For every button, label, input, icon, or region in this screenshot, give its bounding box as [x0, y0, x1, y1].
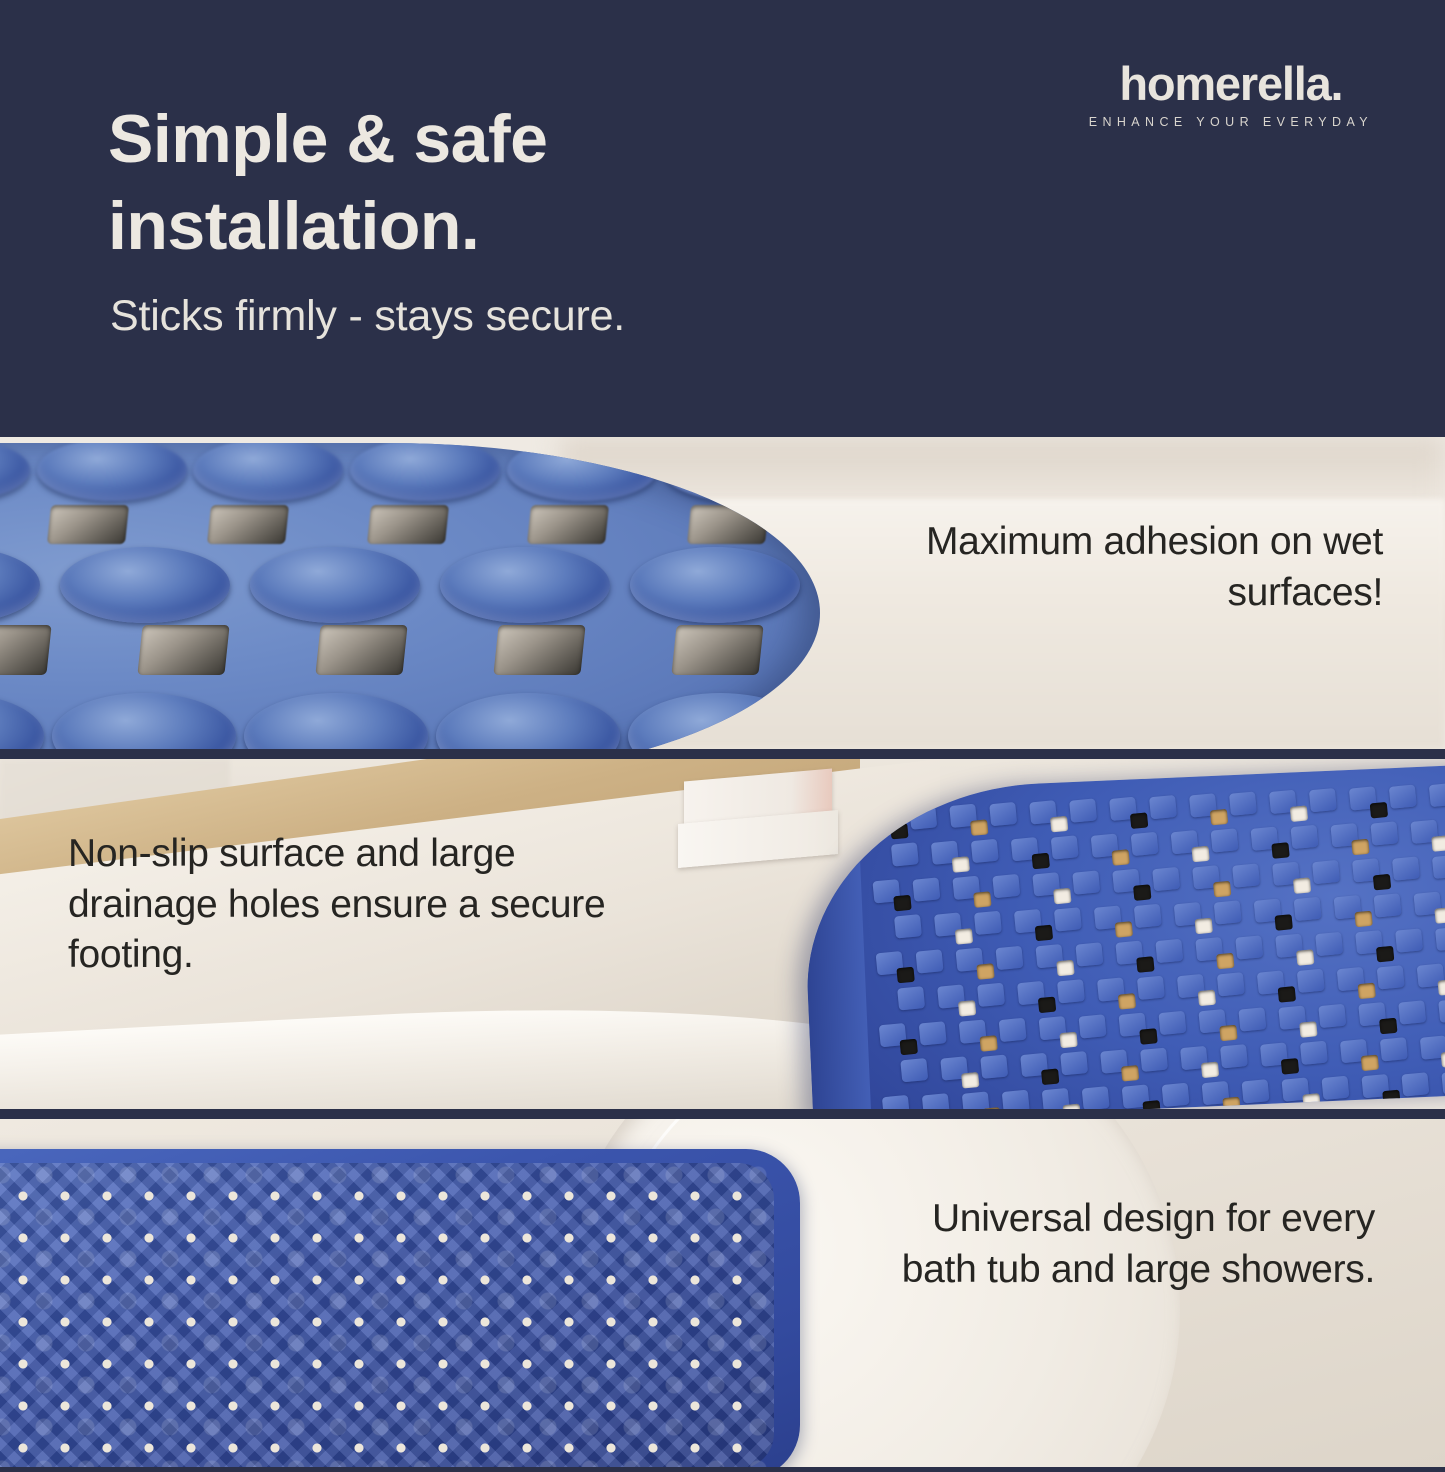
mat-raised-square — [1214, 900, 1242, 924]
mat-raised-square — [1235, 935, 1263, 959]
suction-cup — [350, 443, 500, 501]
mat-drainage-hole — [1358, 983, 1376, 1000]
mat-drainage-hole — [1370, 802, 1388, 819]
mat-raised-square — [1238, 1007, 1266, 1031]
suction-cup — [436, 693, 620, 754]
mat-raised-square — [909, 805, 937, 829]
mat-drainage-hole — [1293, 877, 1311, 894]
mat-raised-square — [1389, 784, 1417, 808]
mat-raised-square — [974, 911, 1002, 935]
mat-raised-square — [995, 946, 1023, 970]
mat-drainage-hole — [1035, 925, 1053, 942]
mat-drainage-hole — [1213, 881, 1231, 898]
suction-cup — [193, 443, 343, 501]
mat-raised-square — [1392, 856, 1420, 880]
mat-raised-square — [1229, 791, 1257, 815]
mat-raised-square — [1297, 969, 1325, 993]
mat-drainage-hole — [1038, 997, 1056, 1014]
mat-raised-square — [977, 983, 1005, 1007]
bath-mat-draped — [799, 764, 1445, 1114]
mat-drainage-hole — [890, 823, 908, 840]
mat-drainage-hole — [893, 895, 911, 912]
mat-drainage-hole — [1219, 1025, 1237, 1042]
mat-drainage-hole — [1041, 1069, 1059, 1086]
mat-raised-square — [1441, 1070, 1445, 1094]
suction-cup — [0, 693, 44, 754]
suction-cup — [37, 443, 187, 501]
mat-raised-square — [1220, 1044, 1248, 1068]
mat-raised-square — [1211, 828, 1239, 852]
mat-raised-square — [1079, 1014, 1107, 1038]
mat-drainage-hole — [1112, 849, 1130, 866]
product-infographic: Simple & safe installation. Sticks firml… — [0, 0, 1445, 1472]
brand-tagline: ENHANCE YOUR EVERYDAY — [1089, 116, 1373, 129]
mat-raised-square — [1134, 904, 1162, 928]
brand-logo: homerella. ENHANCE YOUR EVERYDAY — [1089, 60, 1373, 129]
mat-raised-square — [1060, 1051, 1088, 1075]
mat-drainage-hole — [1354, 911, 1372, 928]
mat-drainage-hole — [983, 1107, 1001, 1114]
mat-drainage-hole — [1142, 1100, 1160, 1114]
suction-cup — [60, 547, 230, 623]
mat-raised-square — [1432, 855, 1445, 879]
drainage-hole — [493, 625, 585, 675]
header-banner: Simple & safe installation. Sticks firml… — [0, 0, 1445, 432]
mat-raised-square — [999, 1018, 1027, 1042]
mat-drainage-hole — [1302, 1093, 1320, 1110]
mat-raised-square — [1069, 798, 1097, 822]
bath-mat-underside — [0, 443, 820, 754]
drainage-hole — [207, 505, 289, 544]
suction-cup — [244, 693, 428, 754]
suction-cup — [440, 547, 610, 623]
mat-raised-square — [897, 986, 925, 1010]
suction-cup — [52, 693, 236, 754]
suction-cup — [630, 547, 800, 623]
mat-drainage-hole — [1290, 805, 1308, 822]
mat-raised-square — [1315, 932, 1343, 956]
mat-drainage-hole — [1118, 993, 1136, 1010]
mat-raised-square — [992, 874, 1020, 898]
mat-drainage-hole — [1059, 1032, 1077, 1049]
mat-raised-square — [1054, 907, 1082, 931]
feature-caption-nonslip: Non-slip surface and large drainage hole… — [68, 829, 668, 981]
feature-caption-universal: Universal design for every bath tub and … — [895, 1194, 1375, 1295]
mat-raised-square — [922, 1093, 950, 1114]
mat-raised-square — [919, 1021, 947, 1045]
mat-raised-square — [912, 877, 940, 901]
mat-drainage-hole — [1032, 853, 1050, 870]
mat-raised-square — [1217, 972, 1245, 996]
mat-raised-square — [1149, 795, 1177, 819]
drainage-hole — [47, 505, 129, 544]
mat-drainage-hole — [1438, 979, 1445, 996]
mat-drainage-hole — [1441, 1051, 1445, 1068]
mat-raised-square — [1232, 863, 1260, 887]
mat-drainage-hole — [1376, 946, 1394, 963]
mat-drainage-hole — [1296, 949, 1314, 966]
mat-raised-square — [1051, 835, 1079, 859]
feature-panel-universal: Universal design for every bath tub and … — [0, 1114, 1445, 1472]
mat-drainage-hole — [1351, 839, 1369, 856]
mat-raised-square — [962, 1091, 990, 1114]
mat-raised-square — [1318, 1004, 1346, 1028]
mat-drainage-hole — [1136, 956, 1154, 973]
mat-raised-square — [971, 839, 999, 863]
mat-drainage-hole — [1431, 835, 1445, 852]
mat-drainage-hole — [1361, 1055, 1379, 1072]
mat-raised-square — [1072, 870, 1100, 894]
mat-drainage-hole — [1133, 884, 1151, 901]
mat-raised-square — [1309, 788, 1337, 812]
mat-drainage-hole — [961, 1072, 979, 1089]
mat-drainage-hole — [1050, 816, 1068, 833]
mat-drainage-hole — [1434, 907, 1445, 924]
mat-drainage-holes — [0, 1163, 774, 1469]
mat-raised-square — [882, 1095, 910, 1114]
mat-raised-square — [1374, 893, 1402, 917]
drainage-hole — [137, 625, 229, 675]
mat-raised-square — [980, 1055, 1008, 1079]
drainage-hole — [315, 625, 407, 675]
mat-drainage-hole — [1191, 846, 1209, 863]
mat-raised-square — [894, 914, 922, 938]
feature-caption-adhesion: Maximum adhesion on wet surfaces! — [843, 517, 1383, 618]
mat-raised-square — [1082, 1086, 1110, 1110]
suction-cup — [0, 547, 40, 623]
mat-drainage-hole — [1216, 953, 1234, 970]
mat-raised-square — [1401, 1072, 1429, 1096]
drainage-hole — [527, 505, 609, 544]
mat-drainage-hole — [1299, 1021, 1317, 1038]
mat-raised-square — [1312, 860, 1340, 884]
mat-raised-square — [989, 802, 1017, 826]
mat-drainage-hole — [1115, 921, 1133, 938]
mat-drainage-hole — [1195, 918, 1213, 935]
mat-raised-square — [1002, 1090, 1030, 1114]
mat-raised-square — [1140, 1048, 1168, 1072]
drainage-hole — [687, 505, 769, 544]
mat-drainage-hole — [952, 856, 970, 873]
mat-drainage-hole — [1222, 1097, 1240, 1114]
mat-raised-square — [1057, 979, 1085, 1003]
mat-raised-square — [891, 842, 919, 866]
mat-raised-square — [1158, 1011, 1186, 1035]
mat-drainage-hole — [896, 967, 914, 984]
mat-drainage-hole — [980, 1035, 998, 1052]
mat-drainage-hole — [1063, 1104, 1081, 1114]
mat-raised-square — [916, 949, 944, 973]
mat-drainage-hole — [1053, 888, 1071, 905]
mat-drainage-hole — [976, 963, 994, 980]
mat-raised-square — [900, 1058, 928, 1082]
mat-raised-square — [1395, 928, 1423, 952]
mat-drainage-hole — [1278, 986, 1296, 1003]
mat-drainage-hole — [1275, 914, 1293, 931]
mat-raised-square — [1370, 821, 1398, 845]
mat-drainage-hole — [955, 928, 973, 945]
drainage-hole — [0, 625, 51, 675]
mat-raised-square — [1294, 897, 1322, 921]
mat-drainage-hole — [1379, 1018, 1397, 1035]
brand-name: homerella. — [1089, 60, 1373, 107]
mat-raised-square — [1075, 942, 1103, 966]
mat-raised-square — [1300, 1041, 1328, 1065]
mat-drainage-hole — [973, 891, 991, 908]
page-title: Simple & safe installation. — [108, 96, 868, 270]
mat-raised-square — [1152, 867, 1180, 891]
suction-cup — [507, 443, 657, 501]
mat-drainage-hole — [1121, 1065, 1139, 1082]
mat-drainage-hole — [1382, 1090, 1400, 1107]
mat-drainage-hole — [1139, 1028, 1157, 1045]
mat-raised-square — [1377, 965, 1405, 989]
mat-drainage-hole — [900, 1039, 918, 1056]
suction-cup — [250, 547, 420, 623]
bath-mat-flat — [0, 1149, 800, 1472]
mat-raised-square — [1435, 927, 1445, 951]
mat-raised-square — [1429, 783, 1445, 807]
mat-drainage-hole — [1281, 1058, 1299, 1075]
feature-panel-adhesion: Maximum adhesion on wet surfaces! — [0, 432, 1445, 754]
mat-drainage-hole — [1130, 812, 1148, 829]
mat-raised-square — [1242, 1079, 1270, 1103]
mat-raised-square — [1438, 999, 1445, 1023]
mat-raised-square — [1131, 832, 1159, 856]
mat-raised-square — [1137, 976, 1165, 1000]
mat-drainage-hole — [1373, 874, 1391, 891]
mat-raised-square — [1398, 1000, 1426, 1024]
mat-drainage-hole — [958, 1000, 976, 1017]
mat-raised-square — [1380, 1037, 1408, 1061]
page-subtitle: Sticks firmly - stays secure. — [110, 292, 625, 341]
mat-raised-square — [1290, 825, 1318, 849]
drainage-hole — [671, 625, 763, 675]
mat-raised-square — [1321, 1076, 1349, 1100]
mat-drainage-hole — [1056, 960, 1074, 977]
mat-drainage-hole — [1201, 1062, 1219, 1079]
mat-drainage-hole — [970, 819, 988, 836]
mat-drainage-hole — [1210, 809, 1228, 826]
mat-raised-square — [1155, 939, 1183, 963]
suction-cup — [0, 443, 30, 501]
mat-raised-square — [1162, 1083, 1190, 1107]
mat-drainage-hole — [1271, 842, 1289, 859]
drainage-hole — [367, 505, 449, 544]
mat-drainage-hole — [1198, 990, 1216, 1007]
feature-panel-nonslip: Non-slip surface and large drainage hole… — [0, 754, 1445, 1114]
